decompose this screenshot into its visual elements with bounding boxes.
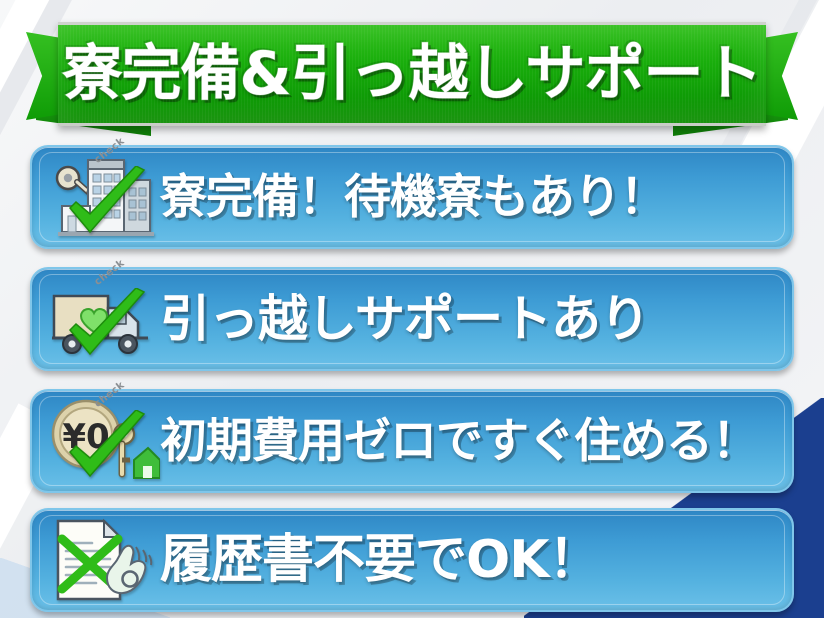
- green-check-icon: [64, 410, 150, 486]
- document-art: [48, 517, 160, 603]
- feature-row-dormitory[interactable]: check 寮完備！待機寮もあり！: [30, 145, 794, 249]
- moving-truck-heart-check-icon: check: [48, 276, 160, 362]
- yen-zero-coin-key-house-check-icon: ¥0 check: [48, 398, 160, 484]
- green-check-icon: [64, 166, 150, 242]
- ribbon-body: 寮完備&引っ越しサポート: [58, 22, 766, 126]
- green-check-icon: [64, 288, 150, 364]
- feature-row-moving-support[interactable]: check 引っ越しサポートあり: [30, 267, 794, 371]
- feature-label: 履歴書不要でOK！: [160, 534, 792, 586]
- document-cross-ok-hand-icon: [48, 517, 160, 603]
- feature-label: 寮完備！待機寮もあり！: [160, 174, 792, 221]
- feature-row-zero-initial-cost[interactable]: ¥0 check 初期費用ゼロですぐ住める！: [30, 389, 794, 493]
- building-key-check-icon: check: [48, 154, 160, 240]
- feature-label: 初期費用ゼロですぐ住める！: [160, 418, 792, 465]
- header-ribbon: 寮完備&引っ越しサポート: [0, 6, 824, 136]
- feature-label: 引っ越しサポートあり: [160, 294, 792, 344]
- banner-title: 寮完備&引っ越しサポート: [58, 44, 766, 104]
- feature-row-no-resume[interactable]: 履歴書不要でOK！: [30, 508, 794, 612]
